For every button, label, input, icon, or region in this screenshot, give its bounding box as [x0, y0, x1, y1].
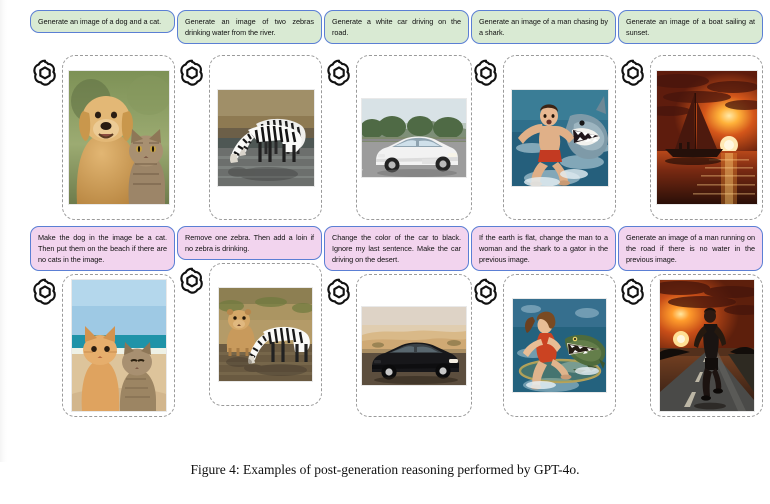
openai-logo-icon	[324, 56, 354, 86]
assistant-turn-2	[471, 274, 616, 417]
assistant-image-card	[62, 55, 175, 220]
example-column-3: Generate a white car driving on the road…	[324, 10, 469, 450]
assistant-turn-1	[618, 55, 763, 220]
openai-logo-icon	[618, 56, 648, 86]
assistant-image-card	[650, 274, 763, 417]
user-turn-2: If the earth is flat, change the man to …	[471, 226, 616, 271]
openai-logo-icon	[177, 56, 207, 86]
prompt-bubble-turn2: Make the dog in the image be a cat. Then…	[30, 226, 175, 271]
generated-image-two-zebras	[217, 89, 315, 187]
figure-grid: Generate an image of a dog and a cat.	[30, 10, 760, 450]
prompt-bubble-turn2: Change the color of the car to black. Ig…	[324, 226, 469, 271]
example-column-5: Generate an image of a boat sailing at s…	[618, 10, 763, 450]
user-turn-1: Generate a white car driving on the road…	[324, 10, 469, 52]
assistant-turn-2	[618, 274, 763, 417]
user-turn-1: Generate an image of a dog and a cat.	[30, 10, 175, 52]
user-turn-2: Remove one zebra. Then add a loin if no …	[177, 226, 322, 260]
page-edge-shadow	[0, 0, 7, 462]
assistant-image-card	[209, 263, 322, 406]
generated-image-two-cats-beach	[71, 279, 167, 412]
generated-image-man-chased-by-shark	[511, 89, 609, 187]
user-turn-1: Generate an image of two zebras drinking…	[177, 10, 322, 52]
openai-logo-icon	[30, 275, 60, 305]
openai-logo-icon	[471, 56, 501, 86]
assistant-image-card	[356, 274, 472, 417]
openai-logo-icon	[618, 275, 648, 305]
prompt-bubble-turn2: Remove one zebra. Then add a loin if no …	[177, 226, 322, 260]
user-turn-1: Generate an image of a man chasing by a …	[471, 10, 616, 52]
assistant-turn-1	[177, 55, 322, 220]
user-turn-2: Change the color of the car to black. Ig…	[324, 226, 469, 271]
assistant-image-card	[209, 55, 322, 220]
user-turn-2: Make the dog in the image be a cat. Then…	[30, 226, 175, 271]
generated-image-black-car-desert	[361, 306, 467, 386]
prompt-bubble-turn1: Generate an image of two zebras drinking…	[177, 10, 322, 44]
generated-image-woman-chased-by-gator	[512, 298, 607, 393]
assistant-turn-2	[30, 274, 175, 417]
assistant-turn-1	[324, 55, 469, 220]
user-turn-2: Generate an image of a man running on th…	[618, 226, 763, 271]
prompt-bubble-turn2: Generate an image of a man running on th…	[618, 226, 763, 271]
example-column-2: Generate an image of two zebras drinking…	[177, 10, 322, 450]
assistant-turn-1	[471, 55, 616, 220]
prompt-bubble-turn1: Generate an image of a dog and a cat.	[30, 10, 175, 33]
assistant-image-card	[356, 55, 472, 220]
assistant-turn-2	[324, 274, 469, 417]
figure-page: Generate an image of a dog and a cat.	[0, 0, 770, 504]
assistant-image-card	[503, 55, 616, 220]
example-column-4: Generate an image of a man chasing by a …	[471, 10, 616, 450]
generated-image-sailboat-sunset	[656, 70, 758, 205]
assistant-image-card	[503, 274, 616, 417]
generated-image-lion-and-zebra	[218, 287, 313, 382]
assistant-image-card	[62, 274, 175, 417]
prompt-bubble-turn1: Generate a white car driving on the road…	[324, 10, 469, 44]
prompt-bubble-turn2: If the earth is flat, change the man to …	[471, 226, 616, 271]
assistant-turn-1	[30, 55, 175, 220]
figure-caption: Figure 4: Examples of post-generation re…	[0, 462, 770, 478]
openai-logo-icon	[30, 56, 60, 86]
generated-image-white-car	[361, 98, 467, 178]
example-column-1: Generate an image of a dog and a cat.	[30, 10, 175, 450]
generated-image-dog-and-cat	[68, 70, 170, 205]
user-turn-1: Generate an image of a boat sailing at s…	[618, 10, 763, 52]
prompt-bubble-turn1: Generate an image of a boat sailing at s…	[618, 10, 763, 44]
assistant-turn-2	[177, 263, 322, 406]
generated-image-man-running-sunset	[659, 279, 755, 412]
openai-logo-icon	[471, 275, 501, 305]
assistant-image-card	[650, 55, 763, 220]
openai-logo-icon	[324, 275, 354, 305]
openai-logo-icon	[177, 264, 207, 294]
prompt-bubble-turn1: Generate an image of a man chasing by a …	[471, 10, 616, 44]
